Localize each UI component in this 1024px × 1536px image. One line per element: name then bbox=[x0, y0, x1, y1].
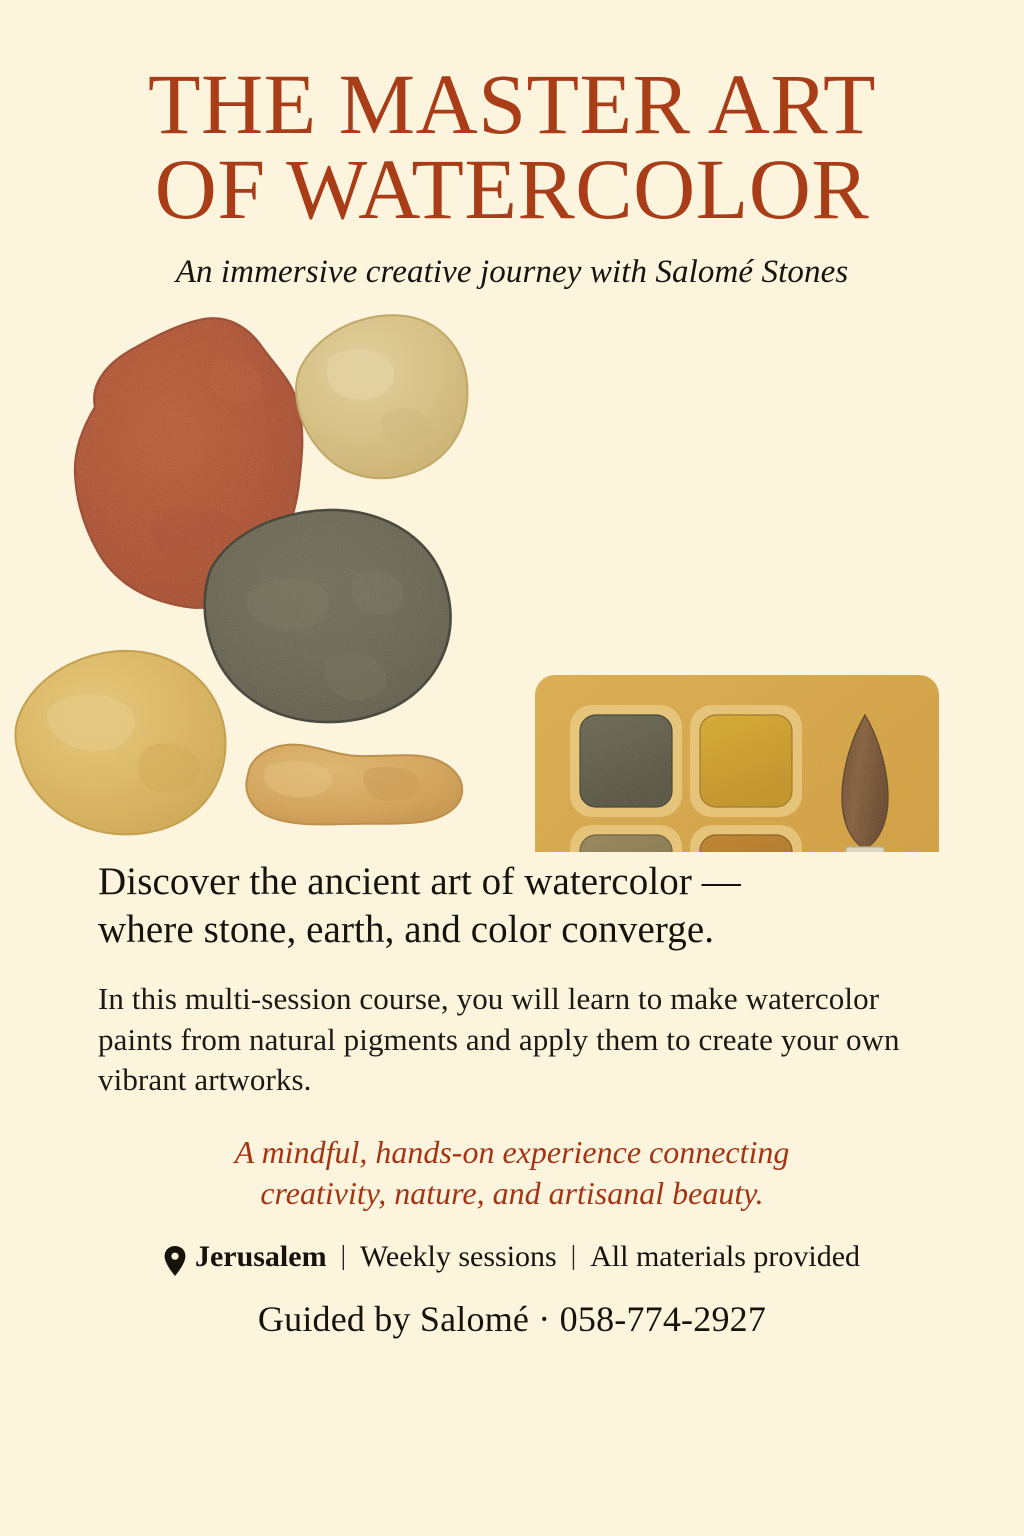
detail-location: Jerusalem bbox=[195, 1240, 327, 1274]
details-line: Jerusalem | Weekly sessions | All materi… bbox=[98, 1240, 926, 1274]
detail-materials: All materials provided bbox=[590, 1240, 860, 1274]
watercolor-palette-illustration bbox=[0, 307, 1024, 852]
contact-footer: Guided by Salomé · 058-774-2927 bbox=[98, 1298, 926, 1340]
lead-line-1: Discover the ancient art of watercolor — bbox=[98, 858, 926, 906]
poster-header: THE MASTER ART OF WATERCOLOR An immersiv… bbox=[0, 0, 1024, 291]
description-paragraph: In this multi-session course, you will l… bbox=[98, 979, 926, 1100]
detail-frequency: Weekly sessions bbox=[360, 1240, 557, 1274]
illustration bbox=[0, 307, 1024, 852]
title-line-1: THE MASTER ART bbox=[0, 62, 1024, 147]
well-golden-yellow bbox=[700, 715, 792, 807]
palette-box bbox=[535, 675, 939, 852]
poster-content: Discover the ancient art of watercolor —… bbox=[0, 858, 1024, 1340]
detail-separator-2: | bbox=[557, 1240, 590, 1271]
detail-separator-1: | bbox=[327, 1240, 360, 1271]
well-amber-ochre bbox=[700, 835, 792, 852]
title-line-2: OF WATERCOLOR bbox=[0, 147, 1024, 232]
page-title: THE MASTER ART OF WATERCOLOR bbox=[0, 62, 1024, 232]
subtitle: An immersive creative journey with Salom… bbox=[0, 254, 1024, 291]
highlight-line-1: A mindful, hands-on experience connectin… bbox=[120, 1132, 904, 1173]
map-pin-icon bbox=[164, 1246, 186, 1276]
lead-line-2: where stone, earth, and color converge. bbox=[98, 906, 926, 954]
lead-paragraph: Discover the ancient art of watercolor —… bbox=[98, 858, 926, 953]
well-olive-grey bbox=[580, 715, 672, 807]
brush-ferrule bbox=[846, 847, 884, 852]
poster-root: THE MASTER ART OF WATERCOLOR An immersiv… bbox=[0, 0, 1024, 1536]
highlight-text: A mindful, hands-on experience connectin… bbox=[98, 1132, 926, 1214]
well-khaki bbox=[580, 835, 672, 852]
highlight-line-2: creativity, nature, and artisanal beauty… bbox=[120, 1173, 904, 1214]
